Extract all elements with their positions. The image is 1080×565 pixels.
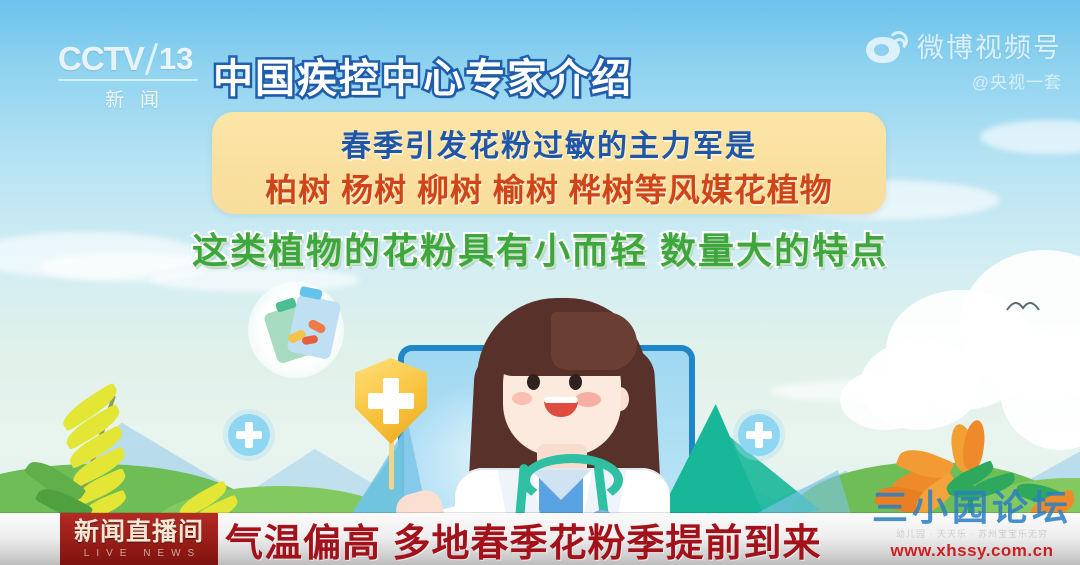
medicine-glow — [248, 282, 344, 378]
program-name-cn: 新闻直播间 — [74, 520, 204, 545]
forum-name: 三小园论坛 — [872, 490, 1072, 526]
forum-url: www.xhssy.com.cn — [872, 541, 1072, 561]
hair-strand-right — [595, 346, 663, 534]
doctor-illustration — [455, 292, 670, 527]
weibo-channel-name: 微博视频号 — [917, 26, 1062, 65]
eye-right — [569, 374, 582, 390]
pill — [301, 335, 318, 346]
forum-subtitle: 幼儿园 · 天天乐 · 苏州宝宝乐无穷 — [872, 527, 1072, 540]
plus-icon-vertical — [755, 422, 763, 448]
blush-left — [512, 392, 532, 405]
weibo-watermark: 微博视频号 @央视一套 — [866, 26, 1062, 93]
weibo-handle: @央视一套 — [866, 68, 1062, 93]
fern-stem — [72, 395, 116, 520]
slide-subtext: 这类植物的花粉具有小而轻 数量大的特点 — [0, 222, 1080, 274]
info-card-line-1: 春季引发花粉过敏的主力军是 — [212, 121, 886, 165]
fern-leaf — [65, 425, 126, 469]
program-badge: 新闻直播间 LIVE NEWS — [60, 513, 218, 565]
medicine-bottle-blue — [286, 294, 341, 360]
cross-icon-horizontal — [368, 393, 414, 409]
pill — [287, 329, 307, 345]
shield-handle — [389, 438, 394, 490]
broadcast-screen: CCTV 13 新闻 微博视频号 @央视一套 中国疾控中心专家介绍 春季引发花粉… — [0, 0, 1080, 565]
pill — [307, 318, 327, 334]
channel-logo-row: CCTV 13 — [58, 40, 238, 78]
program-name-en: LIVE NEWS — [77, 548, 201, 559]
neck — [537, 444, 587, 480]
plus-badge-right — [738, 414, 780, 456]
logo-divider — [145, 43, 158, 75]
plus-icon-horizontal — [236, 431, 262, 439]
blush-right — [575, 392, 601, 407]
mouth — [544, 397, 578, 417]
weibo-eye-icon — [866, 29, 908, 63]
hair-strand-left — [466, 351, 523, 528]
fern-leaf — [69, 446, 129, 488]
cloud — [770, 380, 970, 402]
forum-watermark: 三小园论坛 幼儿园 · 天天乐 · 苏州宝宝乐无穷 www.xhssy.com.… — [872, 490, 1072, 561]
cloud — [886, 290, 1036, 410]
tablet-glow — [408, 380, 558, 525]
medicine-bottle-green — [263, 303, 315, 364]
tablet-frame — [398, 345, 695, 537]
mountain — [0, 414, 290, 524]
ticker-headline: 气温偏高 多地春季花粉季提前到来 — [225, 513, 925, 565]
fringe — [489, 308, 637, 376]
plus-icon-vertical — [245, 422, 253, 448]
eye-left — [527, 374, 540, 390]
cloud — [840, 370, 930, 430]
shield-icon — [355, 358, 427, 444]
ear — [611, 387, 629, 411]
channel-number: 13 — [159, 41, 193, 77]
medicine-cap-blue — [299, 286, 323, 300]
cross-icon-vertical — [383, 378, 399, 424]
teeth — [544, 397, 578, 403]
flower-bud — [961, 419, 988, 471]
cloud — [980, 120, 1080, 154]
collar — [531, 470, 591, 500]
cloud — [1000, 330, 1080, 450]
face — [503, 328, 621, 456]
teal-leaf — [652, 404, 770, 529]
channel-logo: CCTV 13 新闻 — [58, 40, 238, 108]
fern-leaf — [58, 382, 122, 431]
fern-leaf — [62, 404, 125, 451]
fringe-highlight — [551, 312, 637, 370]
slide-headline: 中国疾控中心专家介绍 — [213, 46, 633, 104]
info-card-line-2: 柏树 杨树 柳树 榆树 桦树等风媒花植物 — [212, 165, 886, 211]
fern-leaf — [73, 468, 130, 506]
plus-icon-horizontal — [746, 431, 772, 439]
channel-subtitle: 新闻 — [58, 85, 206, 112]
bird-icon — [1006, 300, 1040, 316]
stethoscope-neck — [521, 454, 623, 506]
logo-underline — [58, 79, 198, 81]
flower-bud — [948, 422, 978, 473]
weibo-row: 微博视频号 — [866, 26, 1062, 65]
flower-petal — [895, 443, 954, 485]
medicine-cap-green — [275, 297, 297, 313]
cloud — [860, 340, 980, 430]
hair — [477, 298, 647, 523]
plus-badge-left — [228, 414, 270, 456]
cctv-wordmark: CCTV — [58, 40, 144, 78]
info-card: 春季引发花粉过敏的主力军是 柏树 杨树 柳树 榆树 桦树等风媒花植物 — [212, 112, 886, 214]
green-leaf — [23, 454, 86, 508]
